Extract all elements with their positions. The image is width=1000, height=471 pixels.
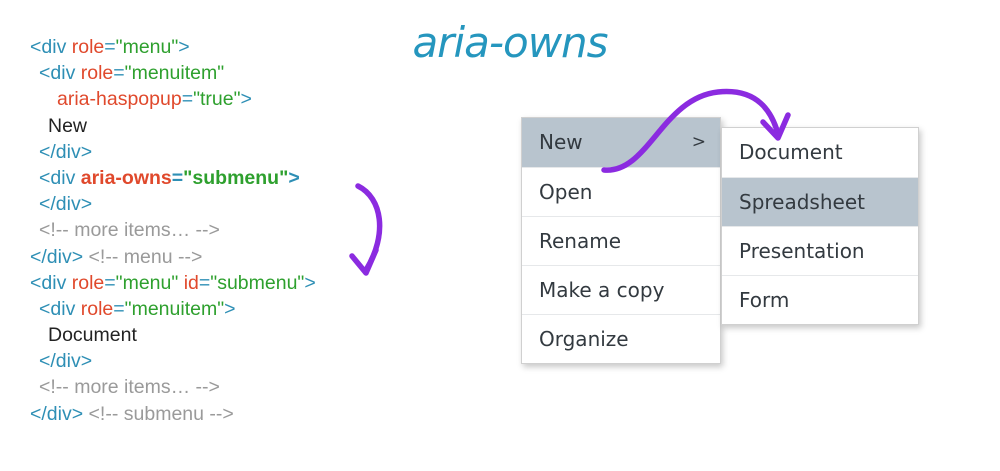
menu-item-open[interactable]: Open — [522, 167, 720, 216]
code-token: </div> — [39, 350, 92, 372]
code-token: = — [104, 36, 115, 58]
submenu-item-spreadsheet[interactable]: Spreadsheet — [722, 177, 918, 226]
menu-item-label: Document — [739, 140, 843, 164]
code-line: <div role="menuitem"> — [30, 296, 316, 322]
menu-item-label: Organize — [539, 327, 629, 351]
code-token: "menuitem" — [125, 298, 224, 320]
code-line: <div role="menuitem" — [30, 60, 316, 86]
code-token: <div — [39, 62, 81, 84]
menu-item-label: Open — [539, 180, 592, 204]
code-token: <div — [39, 298, 81, 320]
code-token: <!-- menu --> — [89, 246, 203, 268]
code-token: id — [184, 272, 199, 294]
code-line: <!-- more items… --> — [30, 374, 316, 400]
menu-item-new[interactable]: New> — [522, 118, 720, 167]
code-token: Document — [48, 324, 137, 346]
code-token: role — [72, 36, 105, 58]
code-token: <div — [30, 272, 72, 294]
code-token: <!-- more items… --> — [39, 376, 220, 398]
code-token: > — [224, 298, 235, 320]
menu-item-rename[interactable]: Rename — [522, 216, 720, 265]
code-token: "menuitem" — [125, 62, 224, 84]
menu-submenu[interactable]: DocumentSpreadsheetPresentationForm — [721, 127, 919, 325]
code-token: role — [72, 272, 105, 294]
submenu-item-presentation[interactable]: Presentation — [722, 226, 918, 275]
menu-item-label: Presentation — [739, 239, 865, 263]
chevron-right-icon: > — [692, 118, 706, 167]
page-title: aria-owns — [380, 18, 640, 67]
code-line: <div role="menu"> — [30, 34, 316, 60]
code-token: <div — [39, 167, 81, 189]
code-line: Document — [30, 322, 316, 348]
code-token: = — [172, 167, 183, 189]
code-token: > — [241, 88, 252, 110]
code-token: = — [182, 88, 193, 110]
code-token: "submenu" — [210, 272, 304, 294]
menu-item-label: Form — [739, 288, 789, 312]
code-line: <div aria-owns="submenu"> — [30, 165, 316, 191]
code-token: </div> — [30, 246, 89, 268]
code-token: = — [113, 298, 124, 320]
menu-item-label: Spreadsheet — [739, 190, 865, 214]
menu-main[interactable]: New>OpenRenameMake a copyOrganize — [521, 117, 721, 364]
code-token: "submenu" — [183, 167, 288, 189]
code-token: aria-owns — [81, 167, 172, 189]
code-token: = — [199, 272, 210, 294]
code-line: </div> — [30, 139, 316, 165]
code-token: New — [48, 115, 87, 137]
menu-item-label: Make a copy — [539, 278, 664, 302]
submenu-item-form[interactable]: Form — [722, 275, 918, 324]
menu-item-label: Rename — [539, 229, 621, 253]
code-token: role — [81, 298, 114, 320]
code-token: > — [178, 36, 189, 58]
code-token: = — [104, 272, 115, 294]
code-token: role — [81, 62, 114, 84]
code-line: <div role="menu" id="submenu"> — [30, 270, 316, 296]
menu-item-make-a-copy[interactable]: Make a copy — [522, 265, 720, 314]
code-line: </div> <!-- menu --> — [30, 244, 316, 270]
code-token: "menu" — [116, 272, 179, 294]
code-listing: <div role="menu"><div role="menuitem"ari… — [30, 34, 316, 427]
code-token: </div> — [39, 193, 92, 215]
code-token: > — [304, 272, 315, 294]
code-token: <div — [30, 36, 72, 58]
code-line: </div> <!-- submenu --> — [30, 401, 316, 427]
menu-item-organize[interactable]: Organize — [522, 314, 720, 363]
submenu-item-document[interactable]: Document — [722, 128, 918, 177]
code-token: </div> — [39, 141, 92, 163]
code-line: <!-- more items… --> — [30, 217, 316, 243]
code-token: <!-- submenu --> — [89, 403, 234, 425]
code-token: aria-haspopup — [57, 88, 182, 110]
slide-canvas: aria-owns <div role="menu"><div role="me… — [0, 0, 1000, 471]
code-token: </div> — [30, 403, 89, 425]
code-line: New — [30, 113, 316, 139]
code-token: > — [288, 167, 299, 189]
code-token: <!-- more items… --> — [39, 219, 220, 241]
curved-arrow-down-left-icon — [330, 178, 420, 288]
code-token: "true" — [193, 88, 240, 110]
code-token: "menu" — [116, 36, 179, 58]
code-line: </div> — [30, 191, 316, 217]
code-token: = — [113, 62, 124, 84]
code-line: aria-haspopup="true"> — [30, 86, 316, 112]
code-line: </div> — [30, 348, 316, 374]
menu-item-label: New — [539, 130, 583, 154]
